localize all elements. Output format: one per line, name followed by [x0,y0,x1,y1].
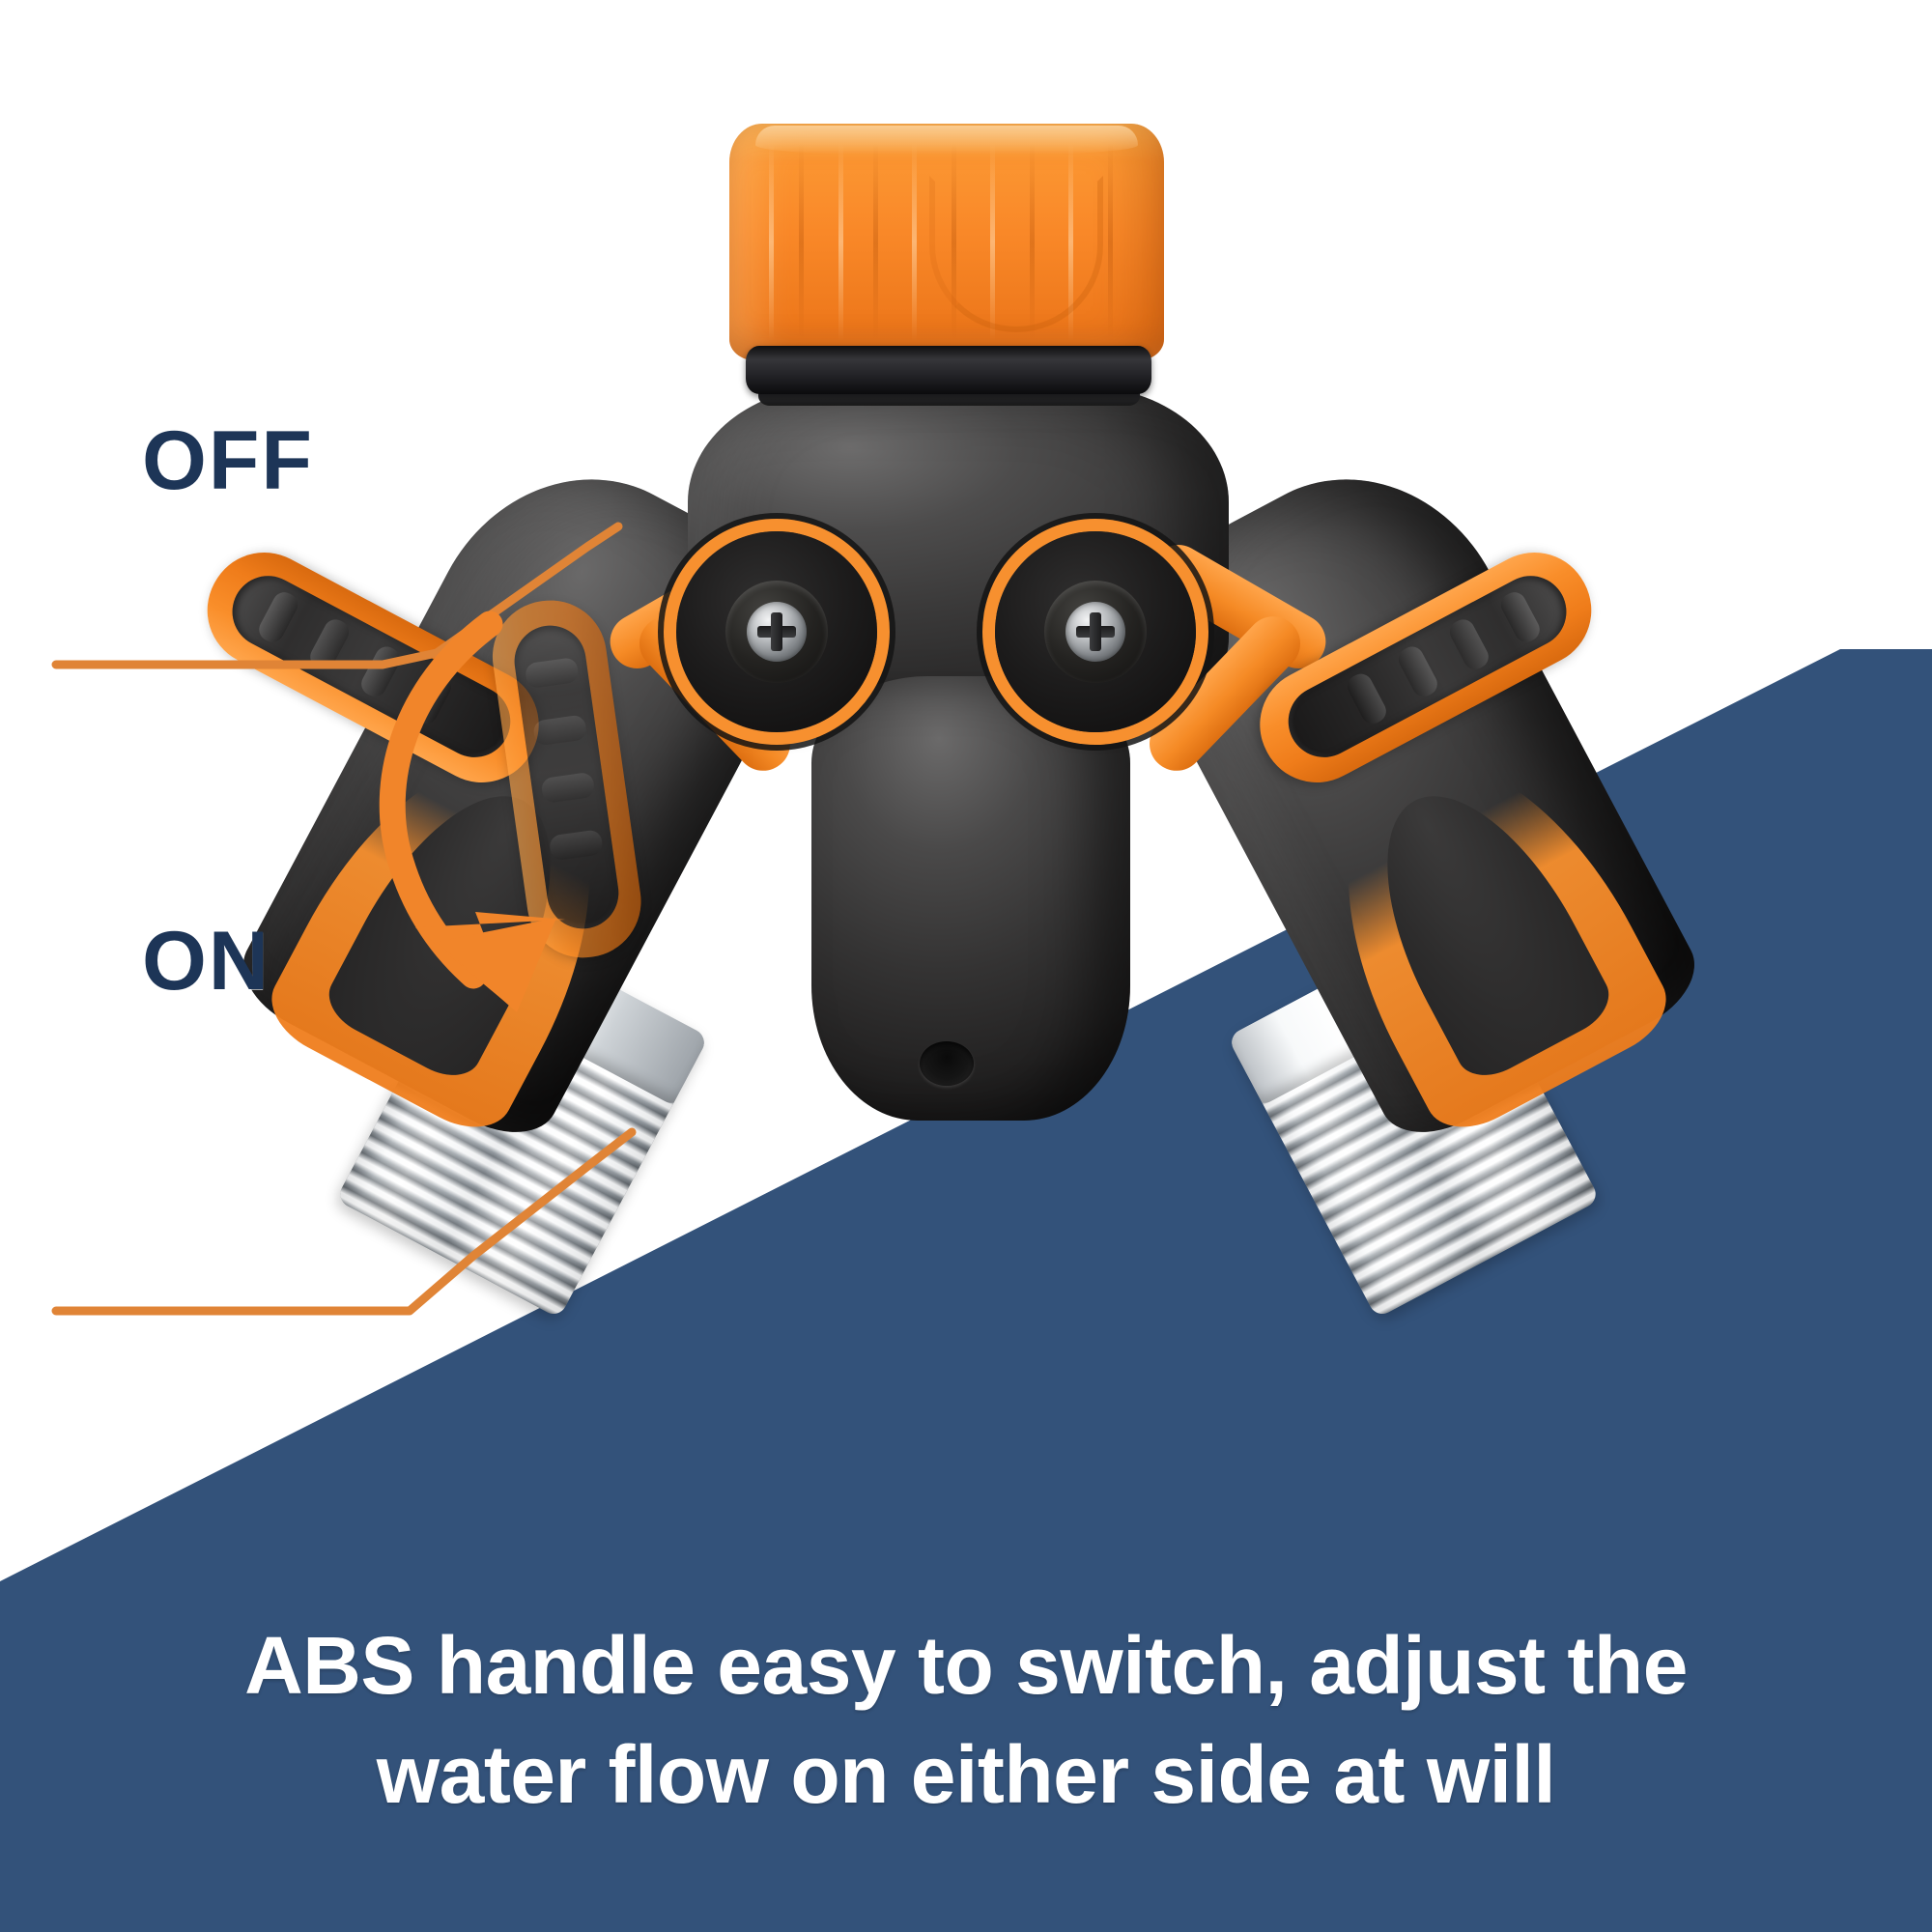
ghost-handle-slot [510,621,623,933]
scene: OFF ON ABS handle easy to switch, adjust… [0,0,1932,1932]
caption-line-1: ABS handle easy to switch, adjust the [155,1611,1777,1720]
cap-highlight [755,126,1138,155]
infographic-canvas: OFF ON ABS handle easy to switch, adjust… [0,0,1932,1932]
inlet-coupling-nut [729,124,1164,360]
right-valve-pivot [995,531,1196,732]
caption-block: ABS handle easy to switch, adjust the wa… [0,1611,1932,1829]
right-pivot-screw-icon [1065,602,1125,662]
inlet-collar [746,346,1151,394]
left-pivot-screw-icon [747,602,807,662]
body-drain-hole [920,1041,974,1086]
caption-line-2: water flow on either side at will [155,1720,1777,1830]
annotation-label-off: OFF [142,419,314,502]
left-valve-pivot [676,531,877,732]
annotation-label-on: ON [142,920,270,1003]
